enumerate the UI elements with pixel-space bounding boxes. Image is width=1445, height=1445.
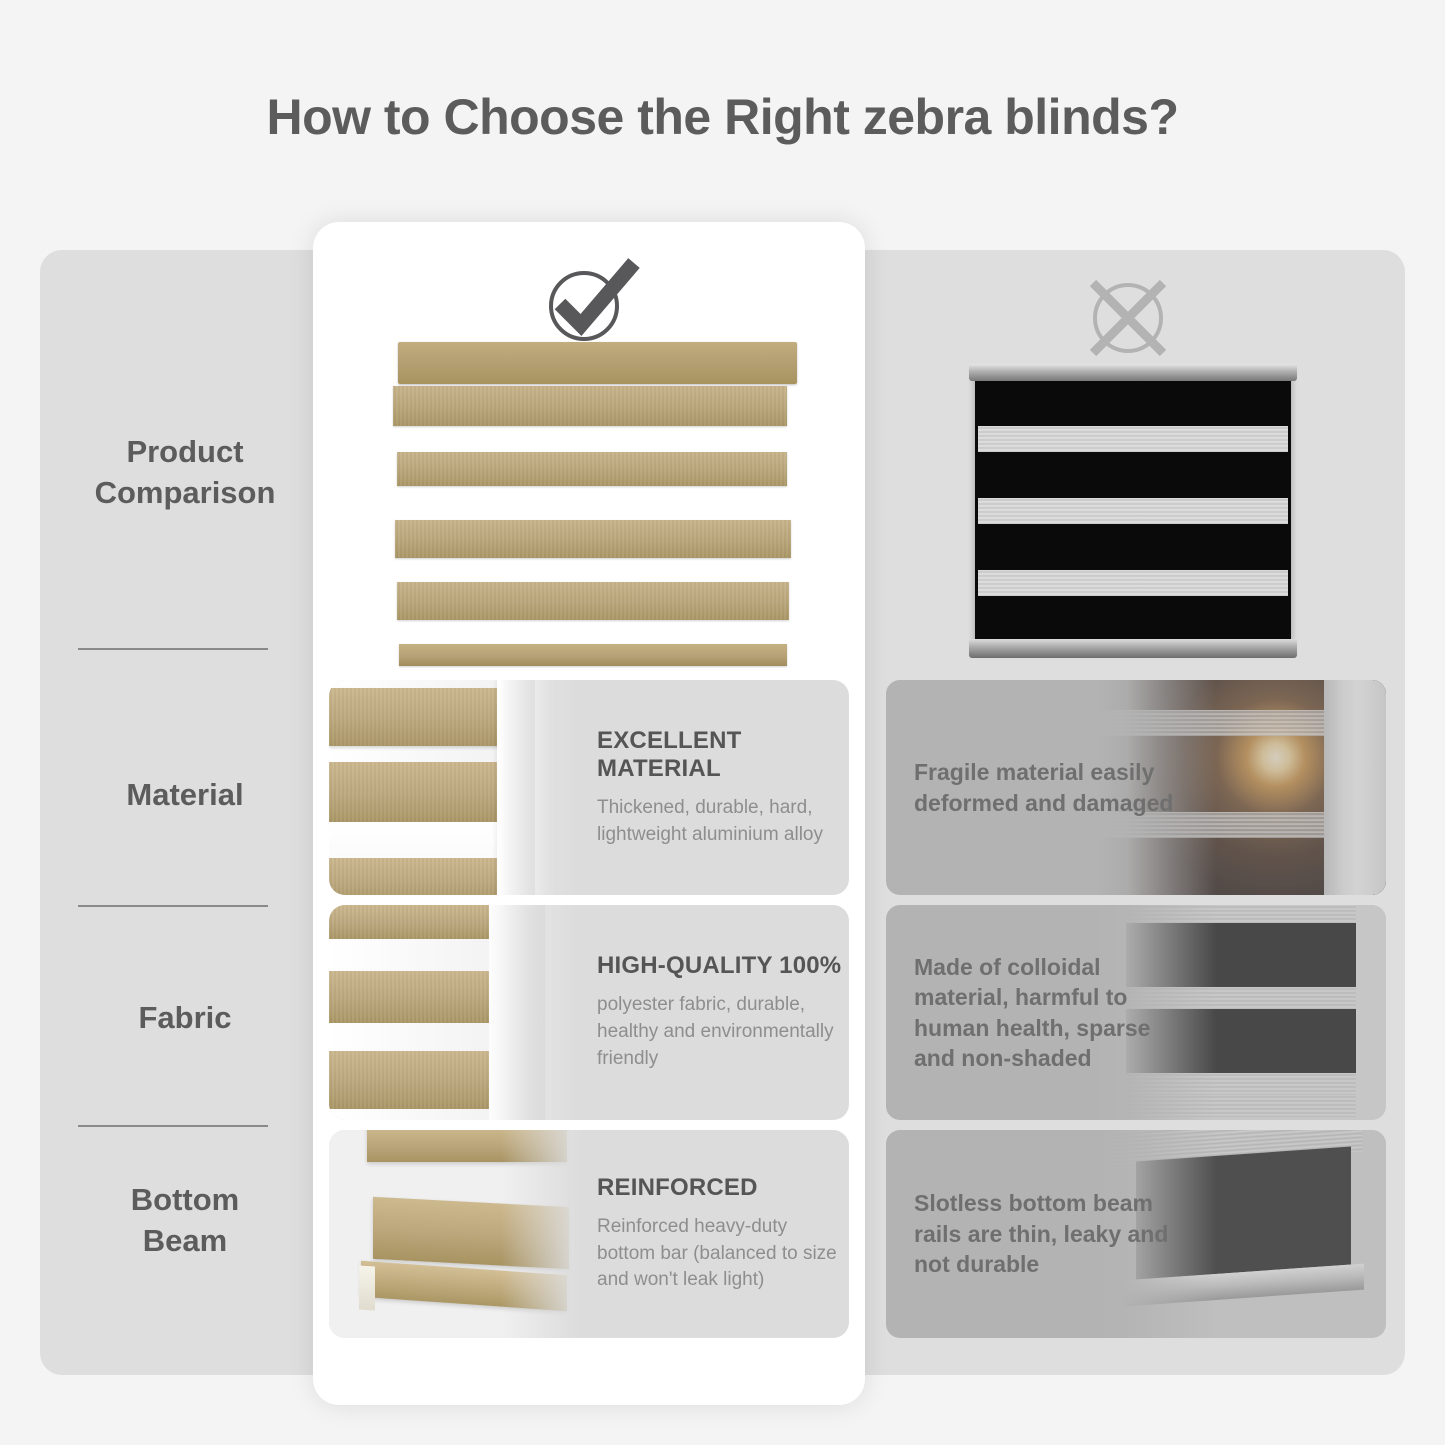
blind-headrail	[329, 688, 510, 746]
card-body: polyester fabric, durable, healthy and e…	[597, 992, 847, 1073]
card-body: Made of colloidal material, harmful to h…	[914, 952, 1184, 1073]
row-divider	[78, 905, 268, 907]
row-divider	[78, 648, 268, 650]
feature-card-bottom-beam: REINFORCED Reinforced heavy-duty bottom …	[329, 1130, 849, 1338]
page-title: How to Choose the Right zebra blinds?	[0, 88, 1445, 146]
card-text-drawback-bottom-beam: Slotless bottom beam rails are thin, lea…	[886, 1130, 1216, 1338]
blind-band	[397, 582, 789, 620]
row-label-product-comparison: Product Comparison	[40, 432, 330, 514]
blind-bottom-rail	[969, 639, 1297, 658]
check-circle-icon	[538, 252, 642, 348]
row-label-line-1: Material	[40, 775, 330, 816]
card-photo-bottom-beam	[329, 1130, 597, 1338]
blind-band	[329, 858, 501, 895]
blind-band	[367, 1130, 567, 1162]
row-label-line-1: Product	[40, 432, 330, 473]
card-photo-fabric	[329, 905, 597, 1120]
drawback-card-material: Fragile material easily deformed and dam…	[886, 680, 1386, 895]
row-label-line-1: Bottom	[40, 1180, 330, 1221]
card-body: Slotless bottom beam rails are thin, lea…	[914, 1188, 1184, 1279]
window-sash	[497, 680, 543, 895]
drawback-card-bottom-beam: Slotless bottom beam rails are thin, lea…	[886, 1130, 1386, 1338]
drawback-card-fabric: Made of colloidal material, harmful to h…	[886, 905, 1386, 1120]
blind-band	[395, 520, 791, 558]
bottom-bar-end-cap	[359, 1265, 375, 1310]
card-body: Reinforced heavy-duty bottom bar (balanc…	[597, 1214, 847, 1295]
blind-sheer-band	[978, 570, 1288, 596]
feature-card-material: EXCELLENT MATERIAL Thickened, durable, h…	[329, 680, 849, 895]
blind-band	[329, 762, 501, 822]
blind-band	[393, 386, 787, 426]
blind-headrail	[398, 342, 797, 384]
blind-band	[329, 905, 509, 939]
row-label-column: Product Comparison Material Fabric Botto…	[40, 250, 330, 1375]
window-sash	[489, 905, 545, 1120]
row-label-material: Material	[40, 775, 330, 816]
card-body: Fragile material easily deformed and dam…	[914, 757, 1184, 818]
row-label-line-1: Fabric	[40, 998, 330, 1039]
row-label-line-2: Beam	[40, 1221, 330, 1262]
card-title: REINFORCED	[597, 1174, 849, 1202]
card-text-drawback-material: Fragile material easily deformed and dam…	[886, 680, 1216, 895]
card-title: HIGH-QUALITY 100%	[597, 952, 849, 980]
cross-circle-icon	[1082, 272, 1174, 364]
card-text-material: EXCELLENT MATERIAL Thickened, durable, h…	[569, 680, 849, 895]
blind-bottom-bar	[399, 644, 787, 666]
window-sash	[535, 680, 559, 895]
card-body: Thickened, durable, hard, lightweight al…	[597, 795, 847, 849]
card-title: EXCELLENT MATERIAL	[597, 727, 849, 783]
feature-card-fabric: HIGH-QUALITY 100% polyester fabric, dura…	[329, 905, 849, 1120]
card-photo-material	[329, 680, 597, 895]
blind-band	[329, 1051, 509, 1109]
card-text-fabric: HIGH-QUALITY 100% polyester fabric, dura…	[569, 905, 849, 1120]
row-label-fabric: Fabric	[40, 998, 330, 1039]
hero-beige-zebra-blind	[393, 342, 797, 664]
blind-band	[397, 452, 787, 486]
blind-band	[329, 971, 509, 1023]
blind-band	[373, 1197, 569, 1269]
row-label-line-2: Comparison	[40, 473, 330, 514]
blind-sheer-band	[978, 426, 1288, 452]
blind-headrail	[969, 364, 1297, 381]
card-text-drawback-fabric: Made of colloidal material, harmful to h…	[886, 905, 1216, 1120]
row-divider	[78, 1125, 268, 1127]
blind-sheer-band	[329, 822, 497, 858]
card-text-bottom-beam: REINFORCED Reinforced heavy-duty bottom …	[569, 1130, 849, 1338]
blind-sheer-band	[978, 498, 1288, 524]
row-label-bottom-beam: Bottom Beam	[40, 1180, 330, 1262]
hero-black-zebra-blind	[975, 370, 1291, 650]
